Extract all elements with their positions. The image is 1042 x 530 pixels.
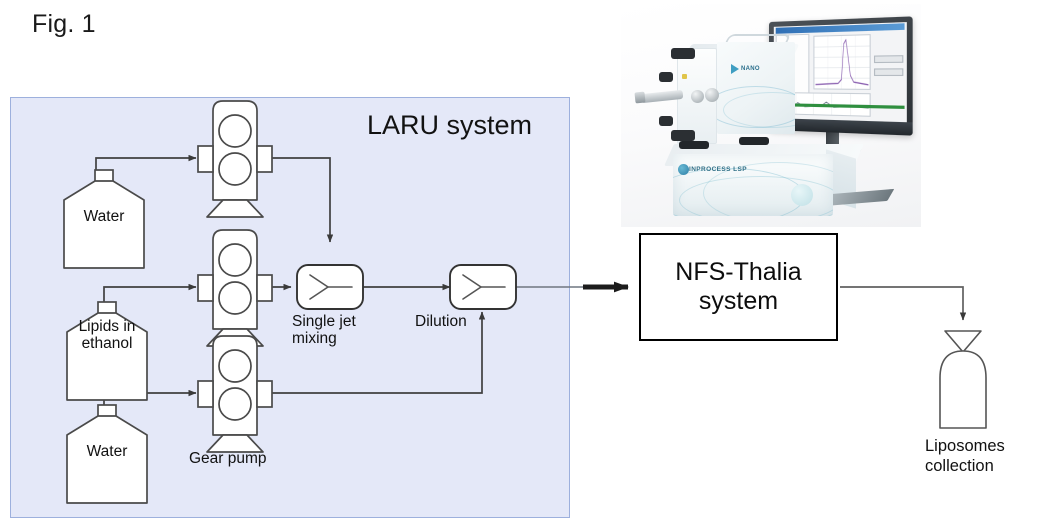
nano-logo-text: NANO xyxy=(741,66,760,72)
instrument-clamp-top xyxy=(671,48,695,59)
instrument-knob-2 xyxy=(705,88,719,102)
tank-label-lipids-ethanol: Lipids in ethanol xyxy=(67,318,147,353)
nfs-thalia-system-box: NFS-Thalia system xyxy=(639,233,838,341)
liposomes-collection-label: Liposomes collection xyxy=(925,437,1042,477)
figure-caption: Fig. 1 xyxy=(32,10,96,39)
gear-pump-label: Gear pump xyxy=(189,450,267,467)
software-tabbar xyxy=(776,23,905,34)
pipe-nfs-to-collection xyxy=(840,287,963,320)
mixer-label-dilution: Dilution xyxy=(415,313,467,330)
software-main-plot xyxy=(813,34,870,90)
nano-logo-icon xyxy=(731,64,739,74)
tank-label-water-top: Water xyxy=(64,208,144,225)
laru-system-title: LARU system xyxy=(367,110,532,141)
instrument-foot-right xyxy=(739,137,769,145)
base-unit-face: INPROCESS LSP xyxy=(673,154,833,216)
liposomes-collection-vessel xyxy=(940,331,986,428)
inprocess-logo-icon xyxy=(678,164,689,175)
nfs-thalia-equipment-photo: INPROCESS LSP NANO xyxy=(621,4,921,227)
instrument-warning-label xyxy=(682,74,687,79)
instrument-clamp-left-bottom xyxy=(659,116,673,126)
instrument-foot-left xyxy=(679,141,709,149)
nfs-thalia-system-label: NFS-Thalia system xyxy=(675,258,801,317)
figure-root: Fig. 1 LARU system xyxy=(0,0,1042,530)
instrument-probe-tip xyxy=(634,92,645,104)
mixer-dilution xyxy=(450,265,516,309)
software-button-2 xyxy=(874,68,903,76)
base-wave-dot xyxy=(791,184,813,206)
instrument-side-panel: NANO xyxy=(717,42,795,134)
mixer-single-jet xyxy=(297,265,363,309)
software-button-1 xyxy=(874,55,903,63)
inprocess-logo-text: INPROCESS LSP xyxy=(689,166,747,173)
instrument-knob-1 xyxy=(691,90,704,103)
instrument-clamp-left-top xyxy=(659,72,673,82)
instrument-clamp-bottom xyxy=(671,130,695,141)
mixer-label-single-jet: Single jet mixing xyxy=(292,313,356,348)
tank-label-water-bottom: Water xyxy=(67,443,147,460)
